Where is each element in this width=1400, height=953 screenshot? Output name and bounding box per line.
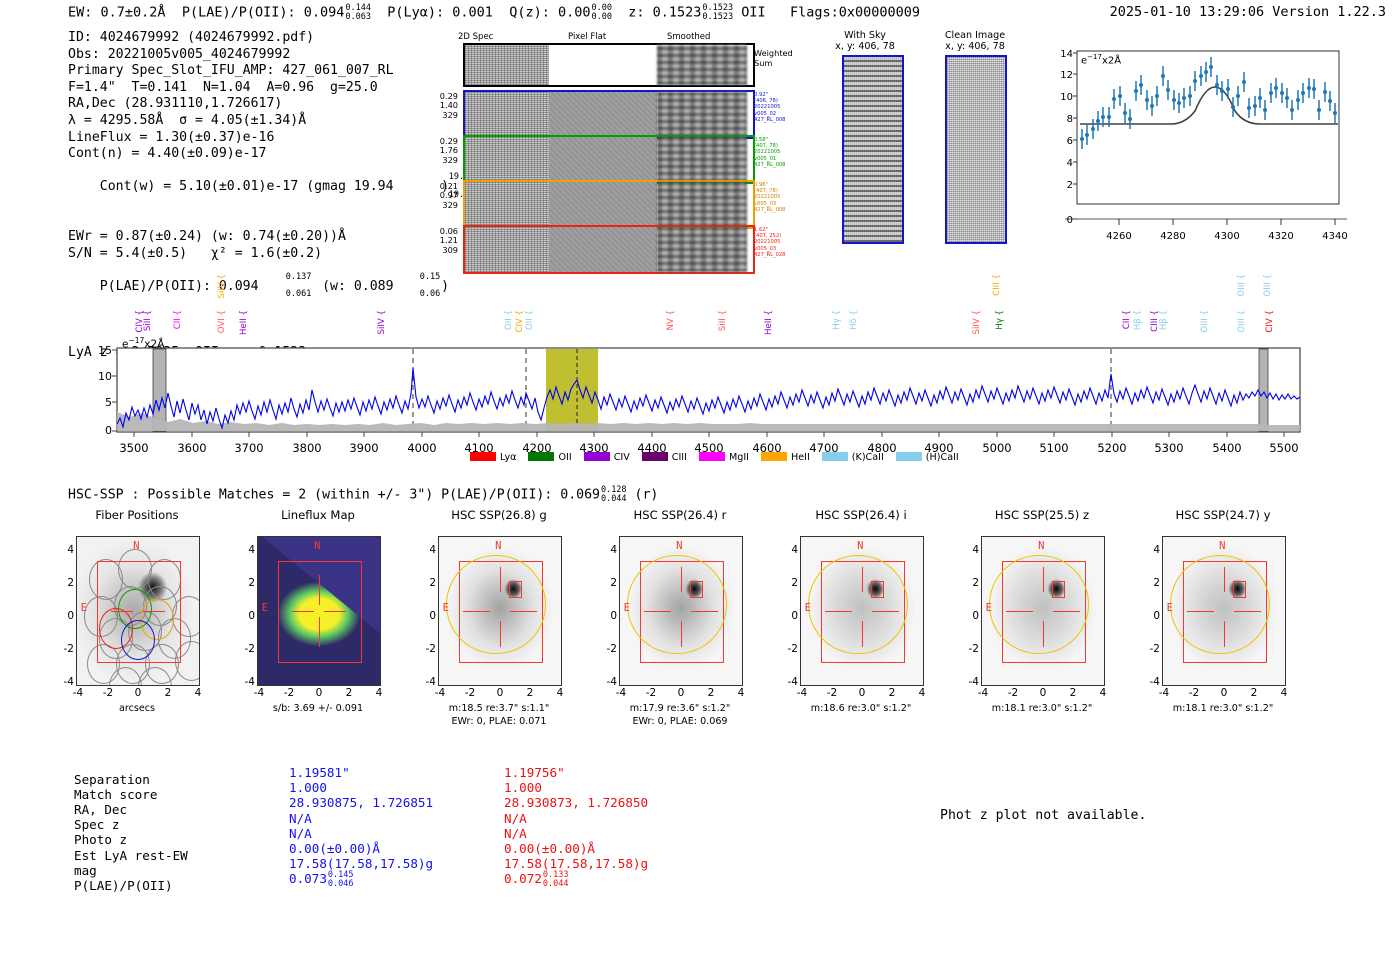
fiber-0-2dspec — [465, 92, 549, 137]
with-sky-title-text: With Sky — [844, 30, 886, 41]
clean-image-title: Clean Image x, y: 406, 78 — [925, 30, 1025, 52]
match-col1-value-1: 1.000 — [289, 780, 327, 795]
panel-0-xtick-0: -4 — [67, 687, 89, 699]
fiber-3-meta-2: 20221005 — [754, 239, 780, 245]
panel-title-5: HSC SSP(25.5) z — [967, 508, 1117, 522]
panel-title-4: HSC SSP(26.4) i — [786, 508, 936, 522]
source-marker-2 — [509, 581, 522, 598]
panel-caption1-2: m:18.5 re:3.7" s:1.1" — [416, 703, 582, 715]
panel-1-xtick-4: 4 — [368, 687, 390, 699]
fiber-0-smoothed — [657, 92, 747, 137]
ellipse-overlay-4 — [808, 555, 908, 655]
svg-text:12: 12 — [1060, 70, 1073, 81]
legend-label-2: CIV — [614, 452, 630, 463]
panel-1-xtick-3: 2 — [338, 687, 360, 699]
panel-4-ytick-1: -2 — [780, 643, 798, 655]
panel-title-0: Fiber Positions — [62, 508, 212, 522]
full-spectrum-chart: CIV {SiII {CII {SiIV {OVI {HeII {SiIV {O… — [60, 272, 1320, 472]
svg-text:3600: 3600 — [177, 441, 206, 455]
match-col2-plae-lo: 0.044 — [543, 879, 569, 889]
photz-message: Phot z plot not available. — [940, 808, 1146, 823]
svg-text:8: 8 — [1067, 114, 1073, 125]
fiber-row-0 — [463, 90, 755, 139]
match-col2-value-7: 0.0720.1330.044 — [504, 871, 569, 888]
fiber-2-meta: 0.96" (407, 78) 20221005 v005_03 427_RL_… — [754, 182, 786, 213]
weighted-sum-pixelflat-image — [549, 45, 657, 85]
match-col2-value-1: 1.000 — [504, 780, 542, 795]
with-sky-title: With Sky x, y: 406, 78 — [820, 30, 910, 52]
crosshair-right-4 — [872, 611, 899, 612]
match-row-label-5: Est LyA rest-EW — [74, 848, 188, 863]
crosshair-bottom-1 — [319, 617, 320, 647]
info-line-id: ID: 4024679992 (4024679992.pdf) — [68, 30, 449, 47]
panel-0-xtick-3: 2 — [157, 687, 179, 699]
panel-6-xtick-0: -4 — [1153, 687, 1175, 699]
weighted-sum-label: Weighted Sum — [754, 48, 793, 68]
crosshair-top-4 — [862, 567, 863, 592]
legend-item-HCaII: (H)CaII — [896, 452, 959, 463]
match-row-label-3: Spec z — [74, 817, 120, 832]
crosshair-top-2 — [500, 567, 501, 592]
crosshair-right-2 — [510, 611, 537, 612]
legend-swatch-0 — [470, 452, 496, 461]
svg-text:4320: 4320 — [1268, 231, 1293, 242]
header-qz-lo: 0.00 — [591, 12, 611, 22]
panel-title-2: HSC SSP(26.8) g — [424, 508, 574, 522]
panel-4-ytick-3: 2 — [780, 577, 798, 589]
fiber-3-2dspec — [465, 227, 549, 272]
compass-north-4: N — [857, 540, 863, 552]
match-col2-value-6: 17.58(17.58,17.58)g — [504, 856, 648, 871]
panel-5-xtick-1: -2 — [1002, 687, 1024, 699]
panel-0-xtick-1: -2 — [97, 687, 119, 699]
svg-text:3700: 3700 — [234, 441, 263, 455]
panel-5-ytick-4: 4 — [961, 544, 979, 556]
panel-2-xtick-0: -4 — [429, 687, 451, 699]
panel-image-6[interactable]: NE — [1162, 536, 1286, 686]
svg-text:5200: 5200 — [1097, 441, 1126, 455]
header-plae-value: 0.094 — [304, 5, 345, 21]
fiber-1-meta-0: 0.58" — [754, 137, 768, 143]
header-z-species: OII — [741, 5, 765, 21]
info-line-primary-spec: Primary Spec_Slot_IFU_AMP: 427_061_007_R… — [68, 63, 449, 80]
panel-3-xtick-0: -4 — [610, 687, 632, 699]
crosshair-bottom-2 — [500, 621, 501, 646]
header-plya: P(Lyα): 0.001 — [387, 5, 493, 21]
panel-0-xtick-4: 4 — [187, 687, 209, 699]
panel-4-xtick-1: -2 — [821, 687, 843, 699]
panel-6-xtick-2: 0 — [1213, 687, 1235, 699]
clean-image-cutout-image — [945, 55, 1007, 244]
header-summary-line: EW: 0.7±0.2Å P(LAE)/P(OII): 0.0940.1440.… — [68, 4, 920, 21]
match-col2-value-0: 1.19756" — [504, 765, 565, 780]
match-row-label-7: P(LAE)/P(OII) — [74, 878, 173, 893]
svg-text:4000: 4000 — [407, 441, 436, 455]
panel-0-ytick-1: -2 — [56, 643, 74, 655]
fiber-1-2dspec — [465, 137, 549, 182]
svg-text:5300: 5300 — [1154, 441, 1183, 455]
panel-caption1-6: m:18.1 re:3.0" s:1.2" — [1140, 703, 1306, 715]
compass-north-2: N — [495, 540, 501, 552]
svg-text:5: 5 — [105, 396, 112, 409]
panel-3-xtick-4: 4 — [730, 687, 752, 699]
svg-text:4260: 4260 — [1106, 231, 1131, 242]
compass-east-1: E — [262, 602, 268, 614]
with-sky-cutout-image — [842, 55, 904, 244]
match-col2-value-4: N/A — [504, 826, 527, 841]
legend-item-CIII: CIII — [642, 452, 687, 463]
crosshair-left-6 — [1187, 611, 1214, 612]
match-col1-value-2: 28.930875, 1.726851 — [289, 795, 433, 810]
spec-col-title-2dspec: 2D Spec — [458, 32, 493, 42]
panel-5-xtick-3: 2 — [1062, 687, 1084, 699]
compass-north-1: N — [314, 540, 320, 552]
fiber-3-meta-0: 1.62" — [754, 227, 768, 233]
svg-text:3800: 3800 — [292, 441, 321, 455]
source-marker-4 — [871, 581, 884, 598]
crosshair-top-5 — [1043, 567, 1044, 592]
panel-6-xtick-3: 2 — [1243, 687, 1265, 699]
compass-north-5: N — [1038, 540, 1044, 552]
panel-5-ytick-2: 0 — [961, 610, 979, 622]
panel-title-3: HSC SSP(26.4) r — [605, 508, 755, 522]
panel-6-ytick-3: 2 — [1142, 577, 1160, 589]
info-line-obs: Obs: 20221005v005_4024679992 — [68, 47, 449, 64]
svg-text:10: 10 — [98, 370, 112, 383]
weighted-sum-smoothed-image — [657, 45, 747, 85]
svg-text:3500: 3500 — [119, 441, 148, 455]
panel-0-xtick-2: 0 — [127, 687, 149, 699]
panel-title-1: Lineflux Map — [243, 508, 393, 522]
panel-0-ytick-4: 4 — [56, 544, 74, 556]
with-sky-subtitle: x, y: 406, 78 — [835, 41, 895, 52]
panel-2-ytick-4: 4 — [418, 544, 436, 556]
legend-item-KCaII: (K)CaII — [822, 452, 884, 463]
spec-col-title-smoothed: Smoothed — [667, 32, 710, 42]
ellipse-overlay-3 — [627, 555, 727, 655]
svg-text:5000: 5000 — [982, 441, 1011, 455]
panel-1-ytick-3: 2 — [237, 577, 255, 589]
legend-label-0: Lyα — [500, 452, 516, 463]
crosshair-left-2 — [463, 611, 490, 612]
panel-4-ytick-4: 4 — [780, 544, 798, 556]
match-col1-value-3: N/A — [289, 811, 312, 826]
compass-north-3: N — [676, 540, 682, 552]
legend-swatch-7 — [896, 452, 922, 461]
fiber-2-meta-4: 427_RL_008 — [754, 207, 786, 213]
crosshair-left-3 — [644, 611, 671, 612]
svg-text:5500: 5500 — [1269, 441, 1298, 455]
panel-3-ytick-2: 0 — [599, 610, 617, 622]
crosshair-left-1 — [292, 611, 314, 612]
legend-item-Lyα: Lyα — [470, 452, 516, 463]
fiber-3-meta-1: (407, 252) — [754, 233, 781, 239]
panel-caption1-4: m:18.6 re:3.0" s:1.2" — [778, 703, 944, 715]
panel-4-xtick-3: 2 — [881, 687, 903, 699]
panel-3-ytick-3: 2 — [599, 577, 617, 589]
crosshair-top-6 — [1224, 567, 1225, 592]
spec-col-title-pixelflat: Pixel Flat — [568, 32, 606, 42]
legend-label-6: (K)CaII — [852, 452, 884, 463]
fiber-3-stat-2: 309 — [442, 245, 458, 255]
crosshair-left-0 — [111, 611, 133, 612]
fiber-3-pixelflat — [549, 227, 657, 272]
svg-text:5100: 5100 — [1039, 441, 1068, 455]
panel-1-ytick-1: -2 — [237, 643, 255, 655]
svg-text:14: 14 — [1060, 49, 1073, 60]
match-row-label-0: Separation — [74, 772, 150, 787]
panel-image-2[interactable]: NE — [438, 536, 562, 686]
svg-text:15: 15 — [98, 344, 112, 357]
panel-3-xtick-2: 0 — [670, 687, 692, 699]
emission-line-zoom-chart: 141210 864 20 42604280 43004320 4340 — [1035, 45, 1355, 245]
panel-caption1-5: m:18.1 re:3.0" s:1.2" — [959, 703, 1125, 715]
svg-text:3900: 3900 — [349, 441, 378, 455]
header-ew: EW: 0.7±0.2Å — [68, 5, 166, 21]
panel-4-xtick-2: 0 — [851, 687, 873, 699]
panel-title-6: HSC SSP(24.7) y — [1148, 508, 1298, 522]
hscssp-header-lo: 0.044 — [601, 494, 627, 504]
header-plae-label: P(LAE)/P(OII): — [182, 5, 296, 21]
fiber-0-meta-4: 427_RL_008 — [754, 117, 786, 123]
crosshair-bottom-5 — [1043, 621, 1044, 646]
crosshair-left-5 — [1006, 611, 1033, 612]
fiber-row-2 — [463, 180, 755, 229]
crosshair-left-4 — [825, 611, 852, 612]
legend-label-5: HeII — [791, 452, 810, 463]
fiber-2-meta-1: (407, 78) — [754, 188, 778, 194]
svg-text:10: 10 — [1060, 92, 1073, 103]
svg-text:4340: 4340 — [1322, 231, 1347, 242]
fiber-3-smoothed — [657, 227, 747, 272]
compass-east-3: E — [624, 602, 630, 614]
panel-1-xtick-1: -2 — [278, 687, 300, 699]
zoom-chart-ylabel: e−17x2Å — [1081, 53, 1121, 66]
panel-0-ytick-2: 0 — [56, 610, 74, 622]
compass-east-5: E — [986, 602, 992, 614]
legend-label-1: OII — [558, 452, 571, 463]
legend-label-4: MgII — [729, 452, 749, 463]
panel-6-ytick-1: -2 — [1142, 643, 1160, 655]
fiber-2-2dspec — [465, 182, 549, 227]
svg-text:4300: 4300 — [1214, 231, 1239, 242]
info-line-lambda: λ = 4295.58Å σ = 4.05(±1.34)Å — [68, 113, 449, 130]
clean-image-title-text: Clean Image — [945, 30, 1005, 41]
panel-1-xtick-2: 0 — [308, 687, 330, 699]
info-line-ewr: EWr = 0.87(±0.24) (w: 0.74(±0.20))Å — [68, 229, 449, 246]
fiber-1-meta-2: 20221005 — [754, 149, 780, 155]
match-col1-value-7: 0.0730.1450.046 — [289, 871, 354, 888]
fiber-1-meta: 0.58" (407, 78) 20221005 v005_01 427_RL_… — [754, 137, 786, 168]
compass-east-2: E — [443, 602, 449, 614]
fiber-0-meta-3: v005_02 — [754, 111, 776, 117]
source-marker-3 — [690, 581, 703, 598]
panel-3-ytick-4: 4 — [599, 544, 617, 556]
weighted-sum-2dspec-image — [465, 45, 549, 85]
header-plae-lo: 0.063 — [345, 12, 371, 22]
panel-0-ytick-3: 2 — [56, 577, 74, 589]
crosshair-top-1 — [319, 575, 320, 605]
match-col1-value-4: N/A — [289, 826, 312, 841]
clean-image-subtitle: x, y: 406, 78 — [945, 41, 1005, 52]
crosshair-right-1 — [324, 611, 346, 612]
match-row-label-2: RA, Dec — [74, 802, 127, 817]
source-marker-5 — [1052, 581, 1065, 598]
fiber-0-meta-2: 20221005 — [754, 104, 780, 110]
fiber-1-meta-4: 427_RL_008 — [754, 162, 786, 168]
panel-caption1-0: arcsecs — [54, 703, 220, 715]
panel-2-xtick-4: 4 — [549, 687, 571, 699]
ellipse-overlay-5 — [989, 555, 1089, 655]
fiber-0-stat-2: 329 — [442, 110, 458, 120]
fiber-1-pixelflat — [549, 137, 657, 182]
legend-label-7: (H)CaII — [926, 452, 959, 463]
hscssp-header-tail: (r) — [635, 488, 659, 503]
panel-2-xtick-1: -2 — [459, 687, 481, 699]
match-col2-value-3: N/A — [504, 811, 527, 826]
fiber-1-meta-3: v005_01 — [754, 156, 776, 162]
panel-caption1-3: m:17.9 re:3.6" s:1.2" — [597, 703, 763, 715]
panel-5-xtick-2: 0 — [1032, 687, 1054, 699]
crosshair-right-0 — [143, 611, 165, 612]
svg-text:6: 6 — [1067, 136, 1073, 147]
match-row-label-1: Match score — [74, 787, 157, 802]
fiber-3-stats: 0.06 1.21 309 — [420, 227, 458, 255]
panel-image-5[interactable]: NE — [981, 536, 1105, 686]
crosshair-bottom-6 — [1224, 621, 1225, 646]
panel-5-xtick-0: -4 — [972, 687, 994, 699]
compass-north-0: N — [133, 540, 139, 552]
info-line-cont-w: Cont(w) = 5.10(±0.01)e-17 (gmag 19.94 ) … — [68, 163, 449, 229]
header-z: z: 0.1523 — [628, 5, 701, 21]
panel-5-ytick-1: -2 — [961, 643, 979, 655]
legend-swatch-4 — [699, 452, 725, 461]
fiber-0-meta-1: (406, 78) — [754, 98, 778, 104]
panel-3-ytick-1: -2 — [599, 643, 617, 655]
match-col2-value-2: 28.930873, 1.726850 — [504, 795, 648, 810]
info-line-fwhm: F=1.4" T=0.141 N=1.04 A=0.96 g=25.0 — [68, 80, 449, 97]
panel-2-ytick-3: 2 — [418, 577, 436, 589]
crosshair-right-6 — [1234, 611, 1261, 612]
panel-2-ytick-2: 0 — [418, 610, 436, 622]
panel-3-xtick-3: 2 — [700, 687, 722, 699]
emission-line-zoom-svg: 141210 864 20 42604280 43004320 4340 — [1035, 45, 1355, 245]
crosshair-bottom-4 — [862, 621, 863, 646]
legend-item-MgII: MgII — [699, 452, 749, 463]
crosshair-top-3 — [681, 567, 682, 592]
fiber-row-1 — [463, 135, 755, 184]
crosshair-right-5 — [1053, 611, 1080, 612]
panel-2-xtick-3: 2 — [519, 687, 541, 699]
panel-4-xtick-0: -4 — [791, 687, 813, 699]
panel-5-ytick-3: 2 — [961, 577, 979, 589]
legend-item-HeII: HeII — [761, 452, 810, 463]
panel-4-ytick-2: 0 — [780, 610, 798, 622]
fiber-0-pixelflat — [549, 92, 657, 137]
panel-image-3[interactable]: NE — [619, 536, 743, 686]
svg-text:5400: 5400 — [1212, 441, 1241, 455]
compass-north-6: N — [1219, 540, 1225, 552]
fiber-2-smoothed — [657, 182, 747, 227]
panel-image-4[interactable]: NE — [800, 536, 924, 686]
fiber-0-meta: 0.92" (406, 78) 20221005 v005_02 427_RL_… — [754, 92, 786, 123]
fiber-2-stats: 0.21 0.97 329 — [420, 182, 458, 210]
legend-item-CIV: CIV — [584, 452, 630, 463]
panel-1-xtick-0: -4 — [248, 687, 270, 699]
ellipse-overlay-2 — [446, 555, 546, 655]
panel-5-xtick-4: 4 — [1092, 687, 1114, 699]
full-spectrum-svg: 1510 50 35003600 37003800 39004000 41004… — [60, 272, 1320, 472]
fiber-2-meta-3: v005_03 — [754, 201, 776, 207]
info-line-lineflux: LineFlux = 1.30(±0.37)e-16 — [68, 130, 449, 147]
full-spectrum-ylabel: e−17x2Å — [122, 336, 164, 351]
match-row-label-4: Photo z — [74, 832, 127, 847]
legend-swatch-1 — [528, 452, 554, 461]
crosshair-bottom-3 — [681, 621, 682, 646]
timestamp-version: 2025-01-10 13:29:06 Version 1.22.3 — [1110, 4, 1386, 20]
fiber-3-meta-3: v005_03 — [754, 246, 776, 252]
aperture-rect-0 — [97, 561, 182, 664]
panel-image-1[interactable]: NE — [257, 536, 381, 686]
fiber-0-stats: 0.29 1.40 329 — [420, 92, 458, 120]
compass-east-0: E — [81, 602, 87, 614]
svg-text:4: 4 — [1067, 158, 1073, 169]
ellipse-overlay-6 — [1170, 555, 1270, 655]
match-col2-value-5: 0.00(±0.00)Å — [504, 841, 595, 856]
match-row-label-6: mag — [74, 863, 97, 878]
panel-2-ytick-1: -2 — [418, 643, 436, 655]
svg-text:2: 2 — [1067, 180, 1073, 191]
fiber-2-meta-2: 20221005 — [754, 194, 780, 200]
panel-6-xtick-1: -2 — [1183, 687, 1205, 699]
fiber-1-smoothed — [657, 137, 747, 182]
panel-6-xtick-4: 4 — [1273, 687, 1295, 699]
fiber-1-stats: 0.29 1.76 329 — [420, 137, 458, 165]
match-col1-value-6: 17.58(17.58,17.58)g — [289, 856, 433, 871]
match-col1-plae-lo: 0.046 — [328, 879, 354, 889]
header-z-lo: 0.1523 — [702, 12, 733, 22]
panel-2-xtick-2: 0 — [489, 687, 511, 699]
svg-text:0: 0 — [105, 424, 112, 437]
info-line-radec: RA,Dec (28.931110,1.726617) — [68, 96, 449, 113]
match-col1-value-0: 1.19581" — [289, 765, 350, 780]
compass-east-6: E — [1167, 602, 1173, 614]
panel-caption1-1: s/b: 3.69 +/- 0.091 — [235, 703, 401, 715]
header-flags: Flags:0x00000009 — [790, 5, 920, 21]
legend-swatch-5 — [761, 452, 787, 461]
fiber-1-stat-2: 329 — [442, 155, 458, 165]
fiber-row-3 — [463, 225, 755, 274]
panel-image-0[interactable]: NE — [76, 536, 200, 686]
panel-1-ytick-4: 4 — [237, 544, 255, 556]
panel-4-xtick-4: 4 — [911, 687, 933, 699]
hscssp-header-text: HSC-SSP : Possible Matches = 2 (within +… — [68, 488, 600, 503]
legend-item-OII: OII — [528, 452, 571, 463]
fiber-1-meta-1: (407, 78) — [754, 143, 778, 149]
fiber-3-meta-4: 427_RL_028 — [754, 252, 786, 258]
info-line-sn: S/N = 5.4(±0.5) χ² = 1.6(±0.2) — [68, 246, 449, 263]
info-cont-w-text: Cont(w) = 5.10(±0.01)e-17 (gmag 19.94 ) — [100, 179, 449, 194]
crosshair-right-3 — [691, 611, 718, 612]
panel-caption2-2: EWr: 0, PLAE: 0.071 — [416, 716, 582, 728]
legend-swatch-3 — [642, 452, 668, 461]
panel-caption2-3: EWr: 0, PLAE: 0.069 — [597, 716, 763, 728]
fiber-3-meta: 1.62" (407, 252) 20221005 v005_03 427_RL… — [754, 227, 786, 258]
header-qz: Q(z): 0.00 — [509, 5, 590, 21]
match-col1-value-5: 0.00(±0.00)Å — [289, 841, 380, 856]
legend-swatch-2 — [584, 452, 610, 461]
legend-swatch-6 — [822, 452, 848, 461]
